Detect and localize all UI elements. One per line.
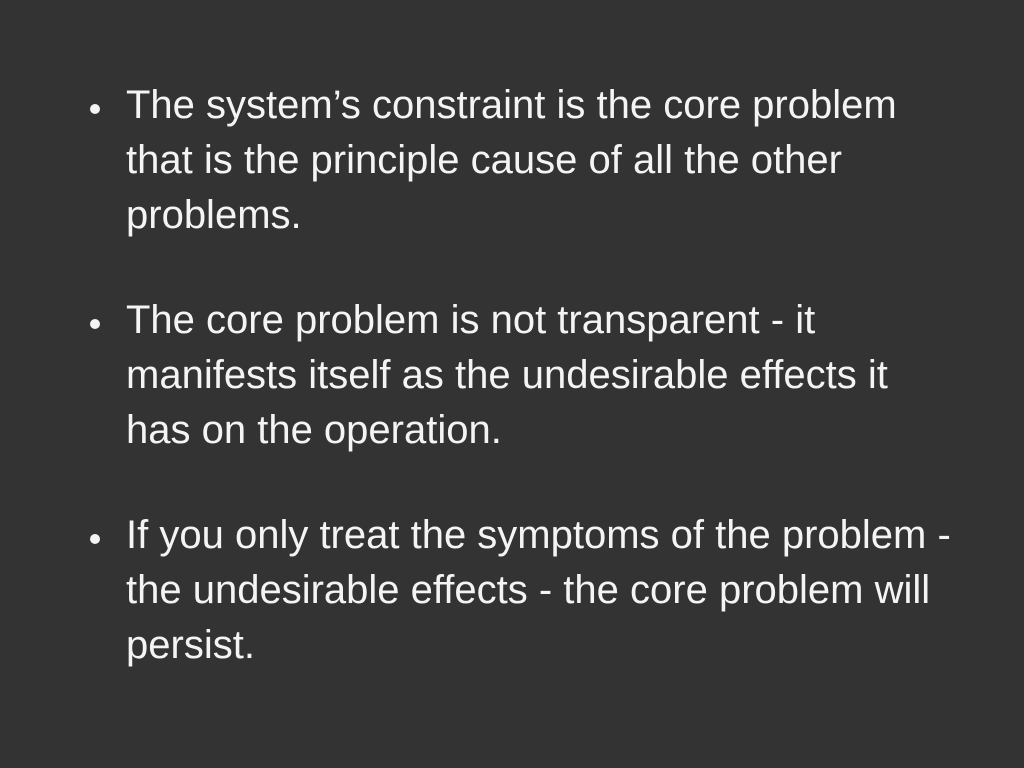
list-item: The system’s constraint is the core prob… — [84, 78, 954, 243]
bullet-point-icon — [90, 319, 100, 329]
bullet-point-icon — [90, 104, 100, 114]
bullet-item-text: If you only treat the symptoms of the pr… — [126, 508, 954, 673]
bullet-list: The system’s constraint is the core prob… — [84, 78, 954, 673]
bullet-item-text: The core problem is not transparent - it… — [126, 293, 954, 458]
bullet-item-text: The system’s constraint is the core prob… — [126, 78, 954, 243]
presentation-slide: The system’s constraint is the core prob… — [0, 0, 1024, 768]
list-item: The core problem is not transparent - it… — [84, 293, 954, 458]
bullet-point-icon — [90, 534, 100, 544]
list-item: If you only treat the symptoms of the pr… — [84, 508, 954, 673]
